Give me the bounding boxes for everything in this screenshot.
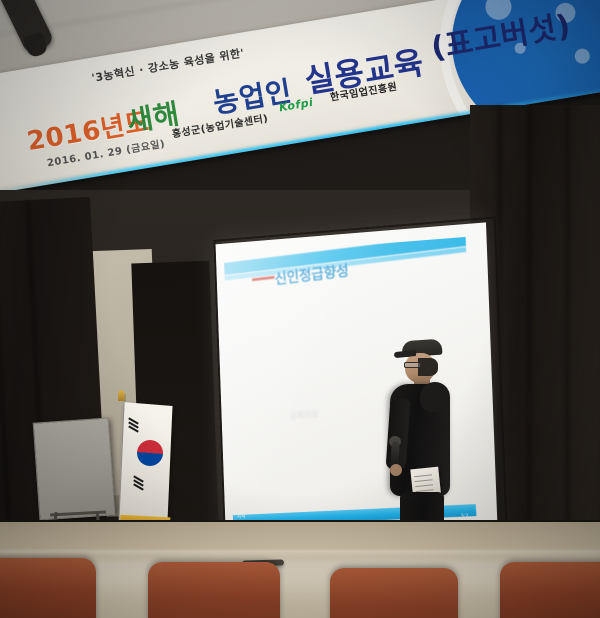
jacket-hood — [420, 382, 450, 412]
presenter-hair — [418, 358, 438, 376]
audience-chair — [500, 562, 600, 618]
projection-screen-frame-edge — [213, 216, 508, 552]
whiteboard-panel — [33, 417, 116, 520]
audience-chair — [148, 562, 280, 618]
banner-topic: (표고버섯) — [427, 1, 573, 68]
flag-pole-finial-icon — [118, 390, 125, 401]
presenter-hand — [390, 464, 402, 476]
stage-floor-lip — [0, 550, 600, 558]
glasses-icon — [404, 362, 421, 368]
lecture-hall-photo: '3농혁신 · 강소농 육성을 위한' 2016년도 새해 농업인 실용교육 (… — [0, 0, 600, 618]
audience-chair — [0, 558, 96, 618]
audience-chair — [330, 568, 458, 618]
